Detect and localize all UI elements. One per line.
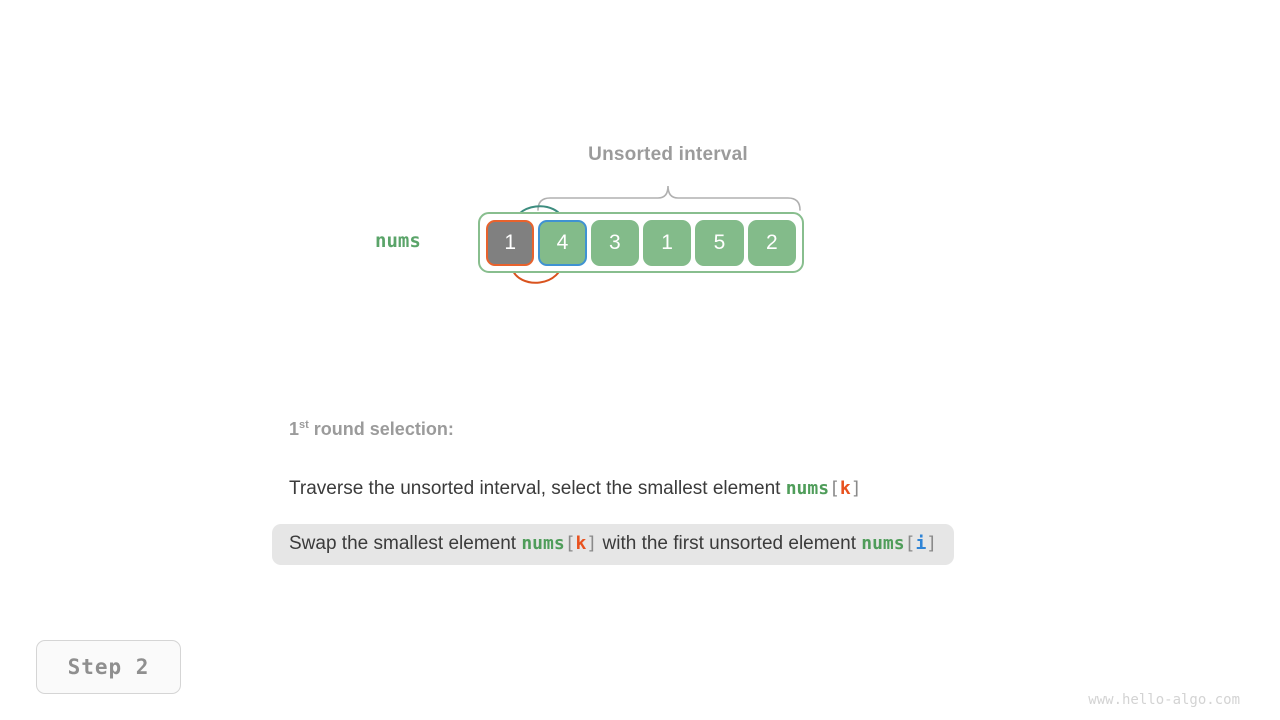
array-name-label: nums: [375, 230, 421, 252]
round-ordinal-suffix: st: [299, 419, 309, 431]
array-cell-4[interactable]: 5: [695, 220, 743, 266]
step-line-traverse: Traverse the unsorted interval, select t…: [289, 469, 1189, 510]
array-cell-1[interactable]: 4: [538, 220, 586, 266]
index-k-token: k: [840, 478, 851, 499]
array-cell-value: 1: [661, 231, 673, 255]
bracket-close: ]: [926, 533, 937, 554]
array-cell-value: 2: [766, 231, 778, 255]
array-cell-5[interactable]: 2: [748, 220, 796, 266]
watermark: www.hello-algo.com: [1088, 692, 1240, 708]
step-badge[interactable]: Step 2: [36, 640, 181, 694]
array-cell-value: 3: [609, 231, 621, 255]
round-selection-heading: 1st round selection:: [289, 404, 1189, 438]
bracket-close: ]: [586, 533, 597, 554]
step-badge-label: Step 2: [68, 655, 150, 679]
index-k-token: k: [576, 533, 587, 554]
array-diagram: Unsorted interval nums 1 4 3 1 5 2: [0, 0, 1280, 360]
index-i-token: i: [915, 533, 926, 554]
array-cells-container: 1 4 3 1 5 2: [478, 212, 804, 273]
round-heading-rest: round selection:: [309, 419, 454, 439]
nums-token: nums: [521, 533, 564, 554]
step-line-swap: Swap the smallest element nums[k] with t…: [272, 524, 954, 565]
bracket-open: [: [829, 478, 840, 499]
array-cell-0[interactable]: 1: [486, 220, 534, 266]
bracket-close: ]: [851, 478, 862, 499]
bracket-open: [: [905, 533, 916, 554]
nums-token: nums: [861, 533, 904, 554]
unsorted-interval-label: Unsorted interval: [0, 144, 1280, 166]
array-cell-value: 1: [504, 231, 516, 255]
round-number: 1: [289, 419, 299, 439]
array-cell-3[interactable]: 1: [643, 220, 691, 266]
explanation-block: 1st round selection: Traverse the unsort…: [289, 404, 1189, 565]
nums-token: nums: [786, 478, 829, 499]
traverse-text: Traverse the unsorted interval, select t…: [289, 478, 786, 499]
array-cell-value: 5: [714, 231, 726, 255]
swap-text-mid: with the first unsorted element: [597, 533, 861, 554]
array-cell-value: 4: [557, 231, 569, 255]
swap-text-pre: Swap the smallest element: [289, 533, 521, 554]
array-cell-2[interactable]: 3: [591, 220, 639, 266]
bracket-open: [: [565, 533, 576, 554]
